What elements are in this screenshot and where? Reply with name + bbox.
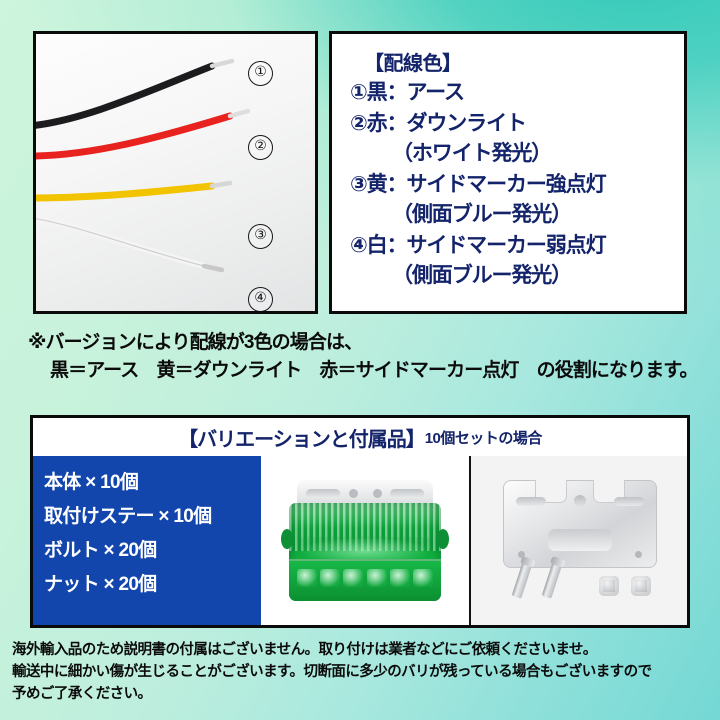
led-5 <box>390 569 410 587</box>
wire-marker-4: ④ <box>248 287 273 312</box>
lamp-photo-cell <box>261 456 469 625</box>
variation-panel-header: 【バリエーションと付属品】 10個セットの場合 <box>33 418 687 456</box>
stay-slot-left <box>516 497 546 506</box>
wiring-section: ① ② ③ ④ 【配線色】 ①黒：アース ②赤：ダウンライト （ホワイト発光） … <box>33 31 687 314</box>
disclaimer: 海外輸入品のため説明書の付属はございません。取り付けは業者などにご依頼くださいま… <box>12 639 712 705</box>
bracket-hole-a <box>349 489 358 498</box>
led-3 <box>343 569 363 587</box>
wiring-legend-panel: 【配線色】 ①黒：アース ②赤：ダウンライト （ホワイト発光） ③黄：サイドマー… <box>329 31 687 314</box>
version-note: ※バージョンにより配線が3色の場合は、 黒＝アース 黄＝ダウンライト 赤＝サイド… <box>28 329 718 385</box>
stay-center-hole <box>574 495 586 507</box>
parts-row-stay: 取付けステー × 10個 <box>44 500 261 534</box>
mounting-stay-image <box>495 474 663 608</box>
disclaimer-line1: 海外輸入品のため説明書の付属はございません。取り付けは業者などにご依頼くださいま… <box>12 639 712 661</box>
legend-line-5: （側面ブルー発光） <box>350 200 684 231</box>
legend-line-3: （ホワイト発光） <box>350 139 684 170</box>
wire-photo-stage: ① ② ③ ④ <box>36 34 315 311</box>
legend-line-4: ③黄：サイドマーカー強点灯 <box>350 170 684 201</box>
led-4 <box>367 569 387 587</box>
product-info-image: ① ② ③ ④ 【配線色】 ①黒：アース ②赤：ダウンライト （ホワイト発光） … <box>0 0 720 720</box>
parts-row-nut: ナット × 20個 <box>44 568 261 602</box>
led-row <box>297 569 433 587</box>
legend-line-6: ④白：サイドマーカー弱点灯 <box>350 231 684 262</box>
legend-line-2: ②赤：ダウンライト <box>350 109 684 140</box>
led-1 <box>297 569 317 587</box>
version-note-line2: 黒＝アース 黄＝ダウンライト 赤＝サイドマーカー点灯 の役割になります。 <box>28 357 718 385</box>
stay-corner-hole-right <box>635 551 642 558</box>
wire-photo-panel: ① ② ③ ④ <box>33 31 318 314</box>
variation-panel: 【バリエーションと付属品】 10個セットの場合 本体 × 10個 取付けステー … <box>30 415 690 628</box>
bracket-hole-b <box>373 489 382 498</box>
disclaimer-line2: 輸送中に細かい傷が生じることがございます。切断面に多少のバリが残っている場合もご… <box>12 661 712 683</box>
stay-slot-right <box>614 497 644 506</box>
bracket-slot-left <box>306 489 340 498</box>
variation-header-strong: 【バリエーションと付属品】 <box>178 423 425 452</box>
wire-marker-2: ② <box>248 135 273 160</box>
lens-lower-section <box>289 559 441 601</box>
legend-title: 【配線色】 <box>364 47 684 76</box>
nut-2 <box>631 576 651 596</box>
wire-illustration <box>36 34 315 311</box>
led-6 <box>413 569 433 587</box>
legend-line-7: （側面ブルー発光） <box>350 261 684 292</box>
lamp-lens <box>289 503 441 601</box>
variation-panel-body: 本体 × 10個 取付けステー × 10個 ボルト × 20個 ナット × 20… <box>33 456 687 625</box>
parts-list-cell: 本体 × 10個 取付けステー × 10個 ボルト × 20個 ナット × 20… <box>33 456 261 625</box>
stay-photo-cell <box>469 456 687 625</box>
green-marker-lamp-image <box>285 477 445 605</box>
bracket-slot-right <box>390 489 424 498</box>
stay-window <box>548 529 612 551</box>
parts-row-body: 本体 × 10個 <box>44 466 261 500</box>
wire-marker-3: ③ <box>248 224 273 249</box>
parts-list: 本体 × 10個 取付けステー × 10個 ボルト × 20個 ナット × 20… <box>33 456 261 602</box>
lamp-ear-left <box>281 529 293 549</box>
disclaimer-line3: 予めご了承ください。 <box>12 683 712 705</box>
parts-row-bolt: ボルト × 20個 <box>44 534 261 568</box>
version-note-line1: ※バージョンにより配線が3色の場合は、 <box>28 329 718 357</box>
led-2 <box>320 569 340 587</box>
wire-marker-1: ① <box>248 61 273 86</box>
legend-line-1: ①黒：アース <box>350 78 684 109</box>
nut-1 <box>599 576 619 596</box>
variation-header-sub: 10個セットの場合 <box>425 427 542 448</box>
lamp-ear-right <box>437 529 449 549</box>
stay-plate <box>503 480 657 568</box>
